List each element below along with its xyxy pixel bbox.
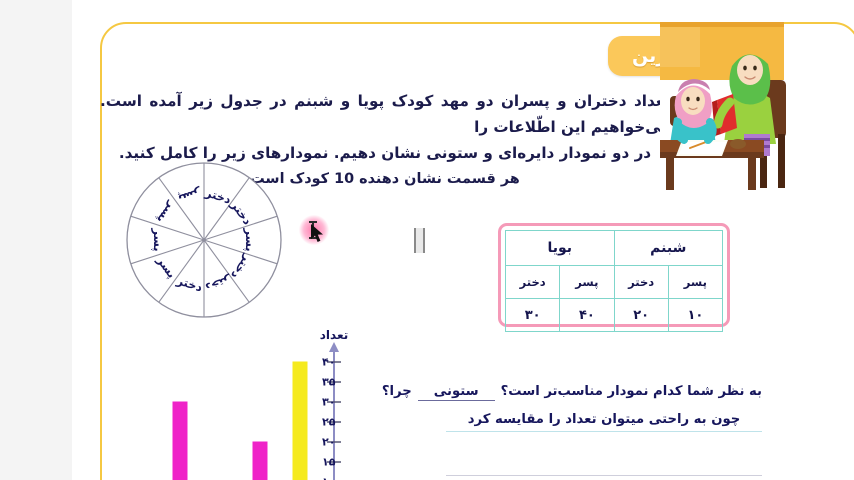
table-value-1: ۲۰ bbox=[614, 299, 668, 332]
kindergarten-data-table: شبنم بویا پسر دختر پسر دختر ۱۰ ۲۰ ۴۰ ۳۰ bbox=[505, 230, 723, 332]
table-subheader-0: پسر bbox=[668, 266, 722, 299]
table-subheader-3: دختر bbox=[506, 266, 560, 299]
worksheet-page: تمرین bbox=[0, 0, 854, 480]
y-axis-tick-label: ۳۵ bbox=[322, 376, 336, 389]
table-group-shabnam: شبنم bbox=[614, 231, 723, 266]
bar-0[interactable] bbox=[293, 362, 307, 480]
page-gutter-left bbox=[0, 0, 72, 480]
y-axis-tick-label: ۲۵ bbox=[322, 416, 336, 429]
table-value-2: ۴۰ bbox=[560, 299, 614, 332]
table-subheader-2: پسر bbox=[560, 266, 614, 299]
answer-line-1[interactable]: چون به راحتی میتوان تعداد را مقایسه کرد bbox=[446, 408, 762, 432]
question-inline-answer[interactable]: ستونی bbox=[418, 384, 495, 401]
y-axis-tick-label: ۴۰ bbox=[322, 356, 335, 369]
students-illustration bbox=[660, 22, 830, 190]
table-row-subheaders: پسر دختر پسر دختر bbox=[506, 266, 723, 299]
secondary-text-caret bbox=[414, 228, 425, 253]
table-value-0: ۱۰ bbox=[668, 299, 722, 332]
bar-3[interactable] bbox=[173, 402, 187, 480]
question-text-end: چرا؟ bbox=[382, 384, 412, 399]
question-text-start: به نظر شما کدام نمودار مناسب‌تر است؟ bbox=[501, 384, 762, 399]
data-table-frame: شبنم بویا پسر دختر پسر دختر ۱۰ ۲۰ ۴۰ ۳۰ bbox=[498, 223, 730, 327]
bar-chart[interactable]: تعداد ۴۰۳۵۳۰۲۵۲۰۱۵۱۰ bbox=[138, 326, 378, 480]
svg-text:تعداد: تعداد bbox=[320, 328, 348, 342]
table-value-3: ۳۰ bbox=[506, 299, 560, 332]
prompt-line-3-prefix: هر قسمت نشان دهنده bbox=[354, 171, 520, 187]
table-subheader-1: دختر bbox=[614, 266, 668, 299]
y-axis-tick-label: ۱۵ bbox=[322, 456, 336, 469]
y-axis-tick-label: ۳۰ bbox=[322, 396, 335, 409]
y-axis-tick-label: ۱۰ bbox=[322, 476, 335, 480]
bar-1[interactable] bbox=[253, 442, 267, 480]
answer-written-text: چون به راحتی میتوان تعداد را مقایسه کرد bbox=[468, 412, 740, 427]
table-row-groups: شبنم بویا bbox=[506, 231, 723, 266]
answer-line-2[interactable] bbox=[446, 452, 762, 476]
mouse-pointer-icon bbox=[311, 224, 327, 244]
table-group-pouya: بویا bbox=[506, 231, 615, 266]
table-row-values: ۱۰ ۲۰ ۴۰ ۳۰ bbox=[506, 299, 723, 332]
question-answer-block: به نظر شما کدام نمودار مناسب‌تر است؟ ستو… bbox=[446, 384, 762, 476]
y-axis-tick-label: ۲۰ bbox=[322, 436, 335, 449]
question-row: به نظر شما کدام نمودار مناسب‌تر است؟ ستو… bbox=[446, 384, 762, 401]
pie-chart[interactable]: دختردخترپسردختردختردخترپسرپسرپسرپسر bbox=[118, 156, 290, 324]
prompt-line-1: تعداد دختران و پسران دو مهد کودک پویا و … bbox=[100, 88, 670, 140]
prompt-line-3-number: 10 bbox=[334, 171, 354, 187]
pie-sector-label: پسر bbox=[151, 227, 165, 251]
pie-sector-label: پسر bbox=[243, 227, 257, 251]
